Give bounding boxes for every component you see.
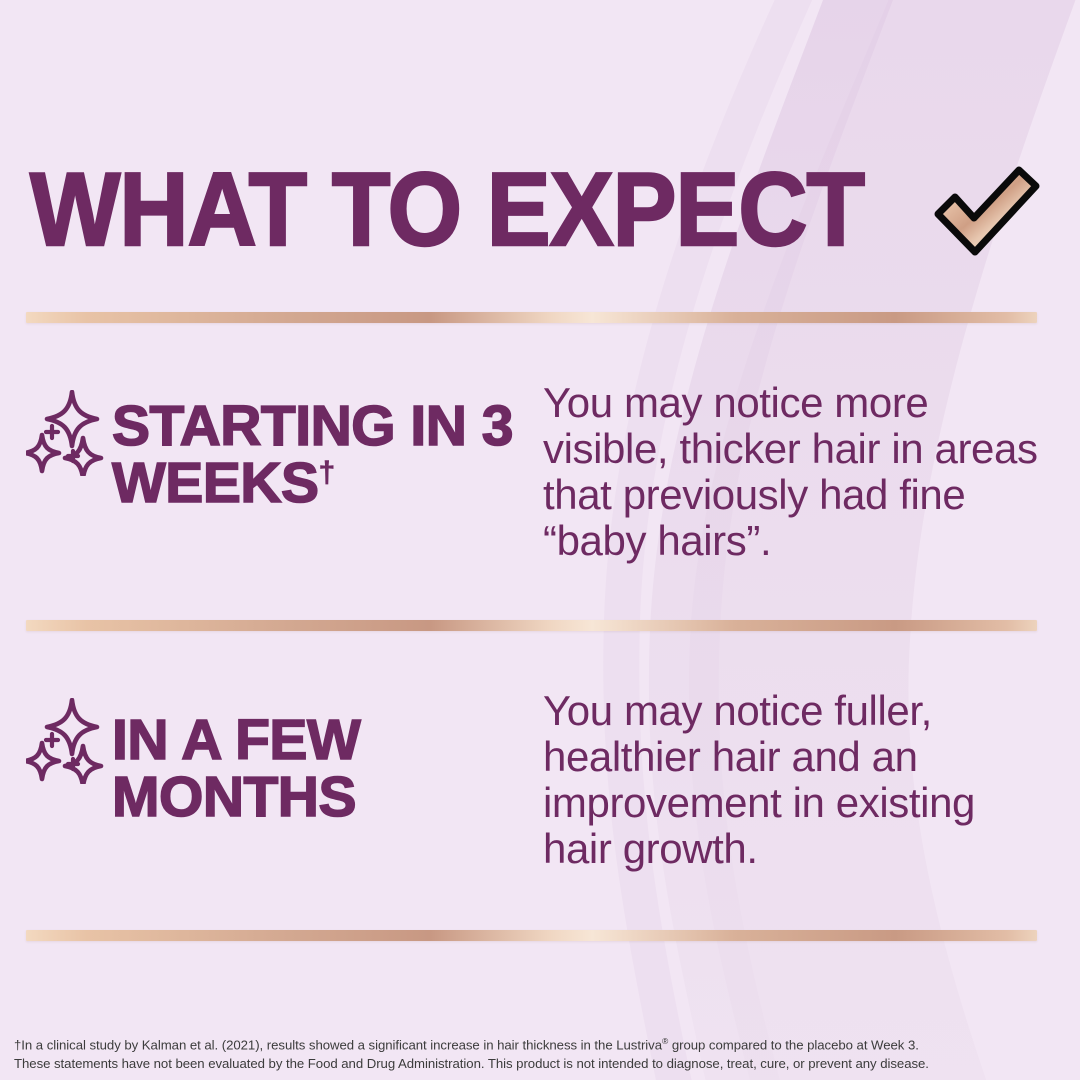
- footnote-line-1-suffix: group compared to the placebo at Week 3.: [668, 1037, 919, 1052]
- sparkles-icon: [26, 390, 104, 476]
- page-title: WHAT TO EXPECT: [30, 158, 864, 262]
- check-icon: [922, 160, 1046, 264]
- row-body-2: You may notice fuller, healthier hair an…: [543, 688, 1053, 872]
- row-heading-1-text: STARTING IN 3 WEEKS: [112, 394, 513, 515]
- footnote-line-1: †In a clinical study by Kalman et al. (2…: [14, 1032, 1014, 1054]
- infographic-canvas: WHAT TO EXPECT: [0, 0, 1080, 1080]
- row-heading-1-dagger: †: [319, 456, 335, 489]
- row-heading-2-text: IN A FEW MONTHS: [112, 708, 360, 829]
- row-heading-1: STARTING IN 3 WEEKS†: [112, 398, 532, 512]
- row-body-1: You may notice more visible, thicker hai…: [543, 380, 1053, 564]
- divider-middle: [26, 620, 1037, 631]
- page-header: WHAT TO EXPECT: [30, 150, 1050, 270]
- sparkles-icon: [26, 698, 104, 784]
- divider-bottom: [26, 930, 1037, 941]
- row-heading-2: IN A FEW MONTHS: [112, 712, 532, 826]
- footnote-line-2: These statements have not been evaluated…: [14, 1054, 1014, 1073]
- footnote-disclaimer: †In a clinical study by Kalman et al. (2…: [14, 1032, 1014, 1073]
- footnote-line-1-prefix: †In a clinical study by Kalman et al. (2…: [14, 1037, 662, 1052]
- divider-top: [26, 312, 1037, 323]
